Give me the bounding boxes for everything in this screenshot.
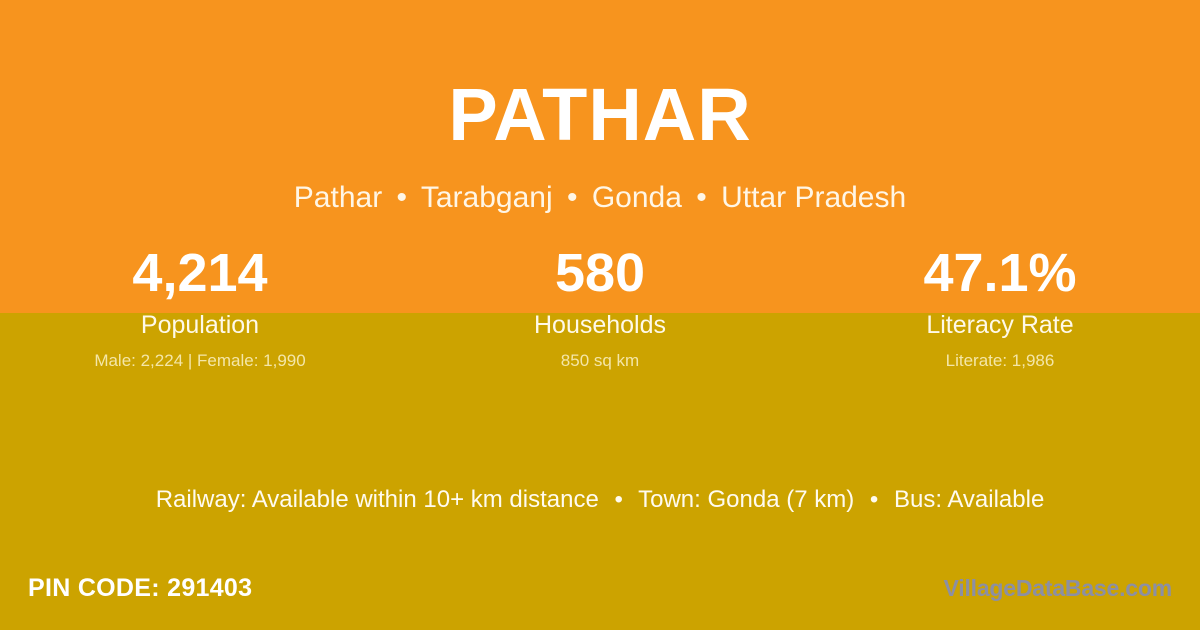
stats-row: 4,214 Population Male: 2,224 | Female: 1… (0, 243, 1200, 371)
infra-item-railway: Railway: Available within 10+ km distanc… (156, 486, 599, 513)
stat-label: Households (400, 310, 800, 340)
stat-label: Literacy Rate (800, 310, 1200, 340)
infra-separator: • (605, 486, 631, 513)
infra-item-town: Town: Gonda (7 km) (638, 486, 854, 513)
site-watermark: VillageDataBase.com (944, 574, 1172, 604)
breadcrumb-separator: • (561, 181, 584, 214)
breadcrumb-item-state: Uttar Pradesh (721, 181, 906, 214)
breadcrumb-item-village: Pathar (294, 181, 382, 214)
breadcrumb-separator: • (391, 181, 414, 214)
stat-subtext: Male: 2,224 | Female: 1,990 (0, 351, 400, 371)
stat-label: Population (0, 310, 400, 340)
stat-value: 4,214 (0, 243, 400, 304)
stat-population: 4,214 Population Male: 2,224 | Female: 1… (0, 243, 400, 371)
stat-subtext: Literate: 1,986 (800, 351, 1200, 371)
stat-subtext: 850 sq km (400, 351, 800, 371)
stat-value: 580 (400, 243, 800, 304)
footer: PIN CODE: 291403 VillageDataBase.com (0, 572, 1200, 614)
infrastructure-line: Railway: Available within 10+ km distanc… (0, 484, 1200, 515)
stat-households: 580 Households 850 sq km (400, 243, 800, 371)
infra-separator: • (861, 486, 887, 513)
stat-value: 47.1% (800, 243, 1200, 304)
page-title: PATHAR (0, 78, 1200, 152)
breadcrumb-item-block: Tarabganj (421, 181, 553, 214)
village-info-card: PATHAR Pathar • Tarabganj • Gonda • Utta… (0, 0, 1200, 630)
breadcrumb-separator: • (690, 181, 713, 214)
stat-literacy-rate: 47.1% Literacy Rate Literate: 1,986 (800, 243, 1200, 371)
breadcrumb: Pathar • Tarabganj • Gonda • Uttar Prade… (0, 180, 1200, 216)
pin-code: PIN CODE: 291403 (28, 572, 252, 605)
infra-item-bus: Bus: Available (894, 486, 1044, 513)
breadcrumb-item-district: Gonda (592, 181, 682, 214)
